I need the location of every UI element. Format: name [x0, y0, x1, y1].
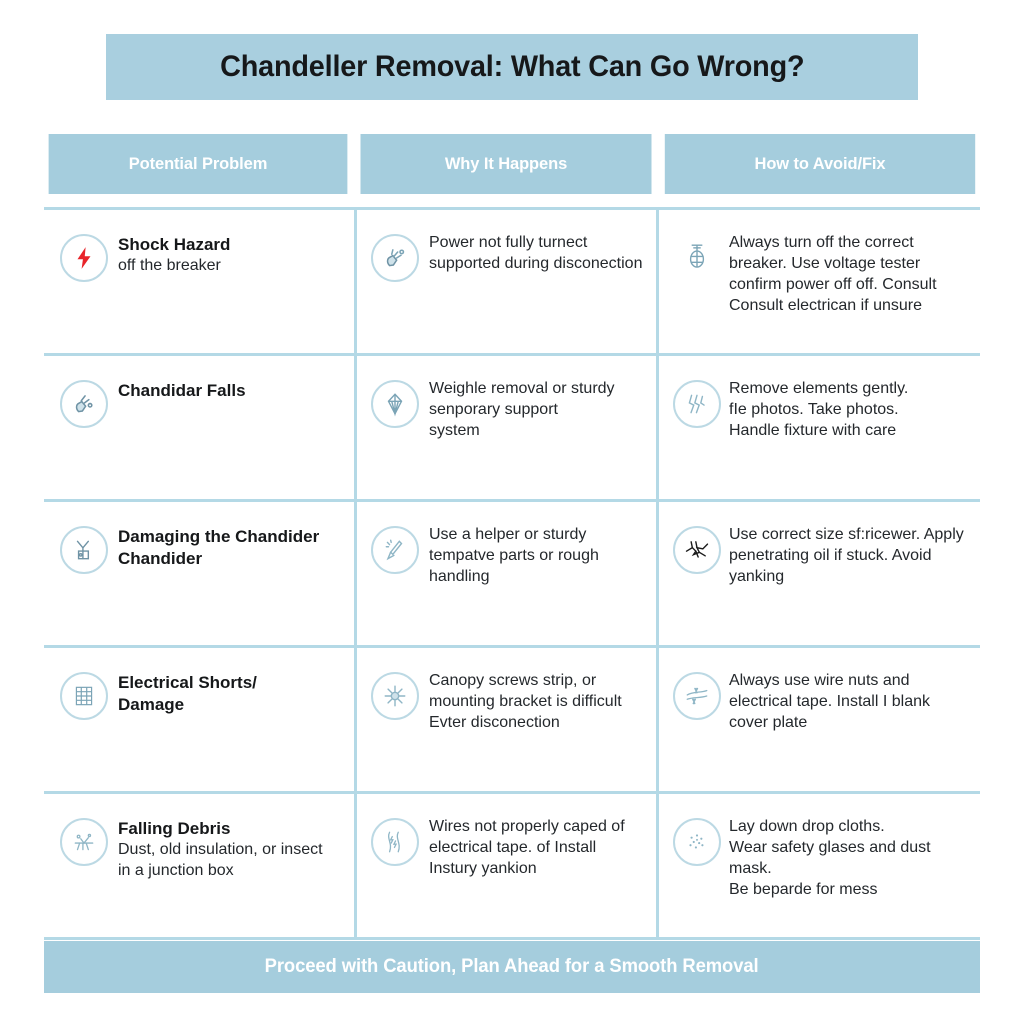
why-body: Power not fully turnect supported during…	[429, 232, 642, 274]
crystal-drops-icon	[673, 380, 721, 428]
screw-strip-icon	[371, 672, 419, 720]
why-body: Use a helper or sturdy tempatve parts or…	[429, 524, 599, 587]
cell-problem: Falling Debris Dust, old insulation, or …	[44, 794, 354, 937]
cell-text: Shock Hazard off the breaker	[118, 232, 230, 277]
cell-why: Canopy screws strip, or mounting bracket…	[354, 648, 656, 791]
fix-body: Always use wire nuts and electrical tape…	[729, 670, 930, 733]
problem-title: Falling Debris	[118, 818, 323, 840]
column-header-label: Why It Happens	[445, 154, 567, 174]
footer-banner: Proceed with Caution, Plan Ahead for a S…	[44, 941, 980, 993]
crack-icon	[673, 526, 721, 574]
cell-problem: Chandidar Falls	[44, 356, 354, 499]
cell-problem: Shock Hazard off the breaker	[44, 210, 354, 353]
rough-handling-icon	[371, 526, 419, 574]
why-body: Canopy screws strip, or mounting bracket…	[429, 670, 622, 733]
fix-body: Remove elements gently. fӀe photos. Take…	[729, 378, 908, 441]
wire-nuts-icon	[673, 672, 721, 720]
problem-title: Damaging the Chandider Chandider	[118, 526, 319, 570]
table-row: Shock Hazard off the breaker Power not f…	[44, 210, 980, 356]
title-banner: Chandeller Removal: What Can Go Wrong?	[106, 34, 918, 100]
cell-text: Damaging the Chandider Chandider	[118, 524, 319, 570]
broken-fixture-icon	[60, 526, 108, 574]
why-body: Weighle removal or sturdy senporary supp…	[429, 378, 615, 441]
column-header-how-to-avoid-fix: How to Avoid/Fix	[665, 134, 975, 194]
cell-fix: Always use wire nuts and electrical tape…	[656, 648, 977, 791]
column-header-label: How to Avoid/Fix	[755, 154, 886, 174]
column-header-why-it-happens: Why It Happens	[361, 134, 652, 194]
exposed-wires-icon	[371, 818, 419, 866]
cell-fix: Lay down drop cloths. Wear safety glases…	[656, 794, 977, 937]
table-row: Damaging the Chandider Chandider Use a h…	[44, 502, 980, 648]
cell-text: Falling Debris Dust, old insulation, or …	[118, 816, 323, 882]
cell-problem: Electrical Shorts/ Damage	[44, 648, 354, 791]
debris-icon	[60, 818, 108, 866]
cell-why: Use a helper or sturdy tempatve parts or…	[354, 502, 656, 645]
cell-fix: Always turn off the correct breaker. Use…	[656, 210, 977, 353]
table-body: Shock Hazard off the breaker Power not f…	[44, 207, 980, 940]
problem-title: Chandidar Falls	[118, 380, 246, 402]
table-row: Chandidar Falls Weighle removal or sturd…	[44, 356, 980, 502]
falling-hand-icon	[60, 380, 108, 428]
cell-fix: Use correct size sf:ricewer. Apply penet…	[656, 502, 977, 645]
cell-text: Electrical Shorts/ Damage	[118, 670, 257, 716]
why-body: Wires not properly caped of electrical t…	[429, 816, 625, 879]
column-header-potential-problem: Potential Problem	[49, 134, 348, 194]
footer-text: Proceed with Caution, Plan Ahead for a S…	[265, 956, 759, 978]
lightning-bolt-icon	[60, 234, 108, 282]
hand-shock-icon	[371, 234, 419, 282]
dust-particles-icon	[673, 818, 721, 866]
cell-text: Chandidar Falls	[118, 378, 246, 402]
problem-sub: Dust, old insulation, or insect in a jun…	[118, 840, 323, 882]
comparison-table: Potential Problem Why It Happens How to …	[44, 134, 980, 940]
column-header-label: Potential Problem	[129, 154, 268, 174]
problem-sub: off the breaker	[118, 256, 230, 277]
table-header-row: Potential Problem Why It Happens How to …	[44, 134, 980, 194]
cell-why: Power not fully turnect supported during…	[354, 210, 656, 353]
cell-why: Wires not properly caped of electrical t…	[354, 794, 656, 937]
voltage-tester-icon	[673, 234, 721, 282]
infographic-page: Chandeller Removal: What Can Go Wrong? P…	[0, 0, 1024, 1024]
junction-panel-icon	[60, 672, 108, 720]
cell-problem: Damaging the Chandider Chandider	[44, 502, 354, 645]
fix-body: Use correct size sf:ricewer. Apply penet…	[729, 524, 964, 587]
chandelier-gem-icon	[371, 380, 419, 428]
fix-body: Lay down drop cloths. Wear safety glases…	[729, 816, 977, 900]
page-title: Chandeller Removal: What Can Go Wrong?	[220, 50, 804, 84]
cell-why: Weighle removal or sturdy senporary supp…	[354, 356, 656, 499]
cell-fix: Remove elements gently. fӀe photos. Take…	[656, 356, 977, 499]
table-row: Electrical Shorts/ Damage Canopy screws …	[44, 648, 980, 794]
table-row: Falling Debris Dust, old insulation, or …	[44, 794, 980, 940]
problem-title: Electrical Shorts/ Damage	[118, 672, 257, 716]
fix-body: Always turn off the correct breaker. Use…	[729, 232, 937, 316]
problem-title: Shock Hazard	[118, 234, 230, 256]
